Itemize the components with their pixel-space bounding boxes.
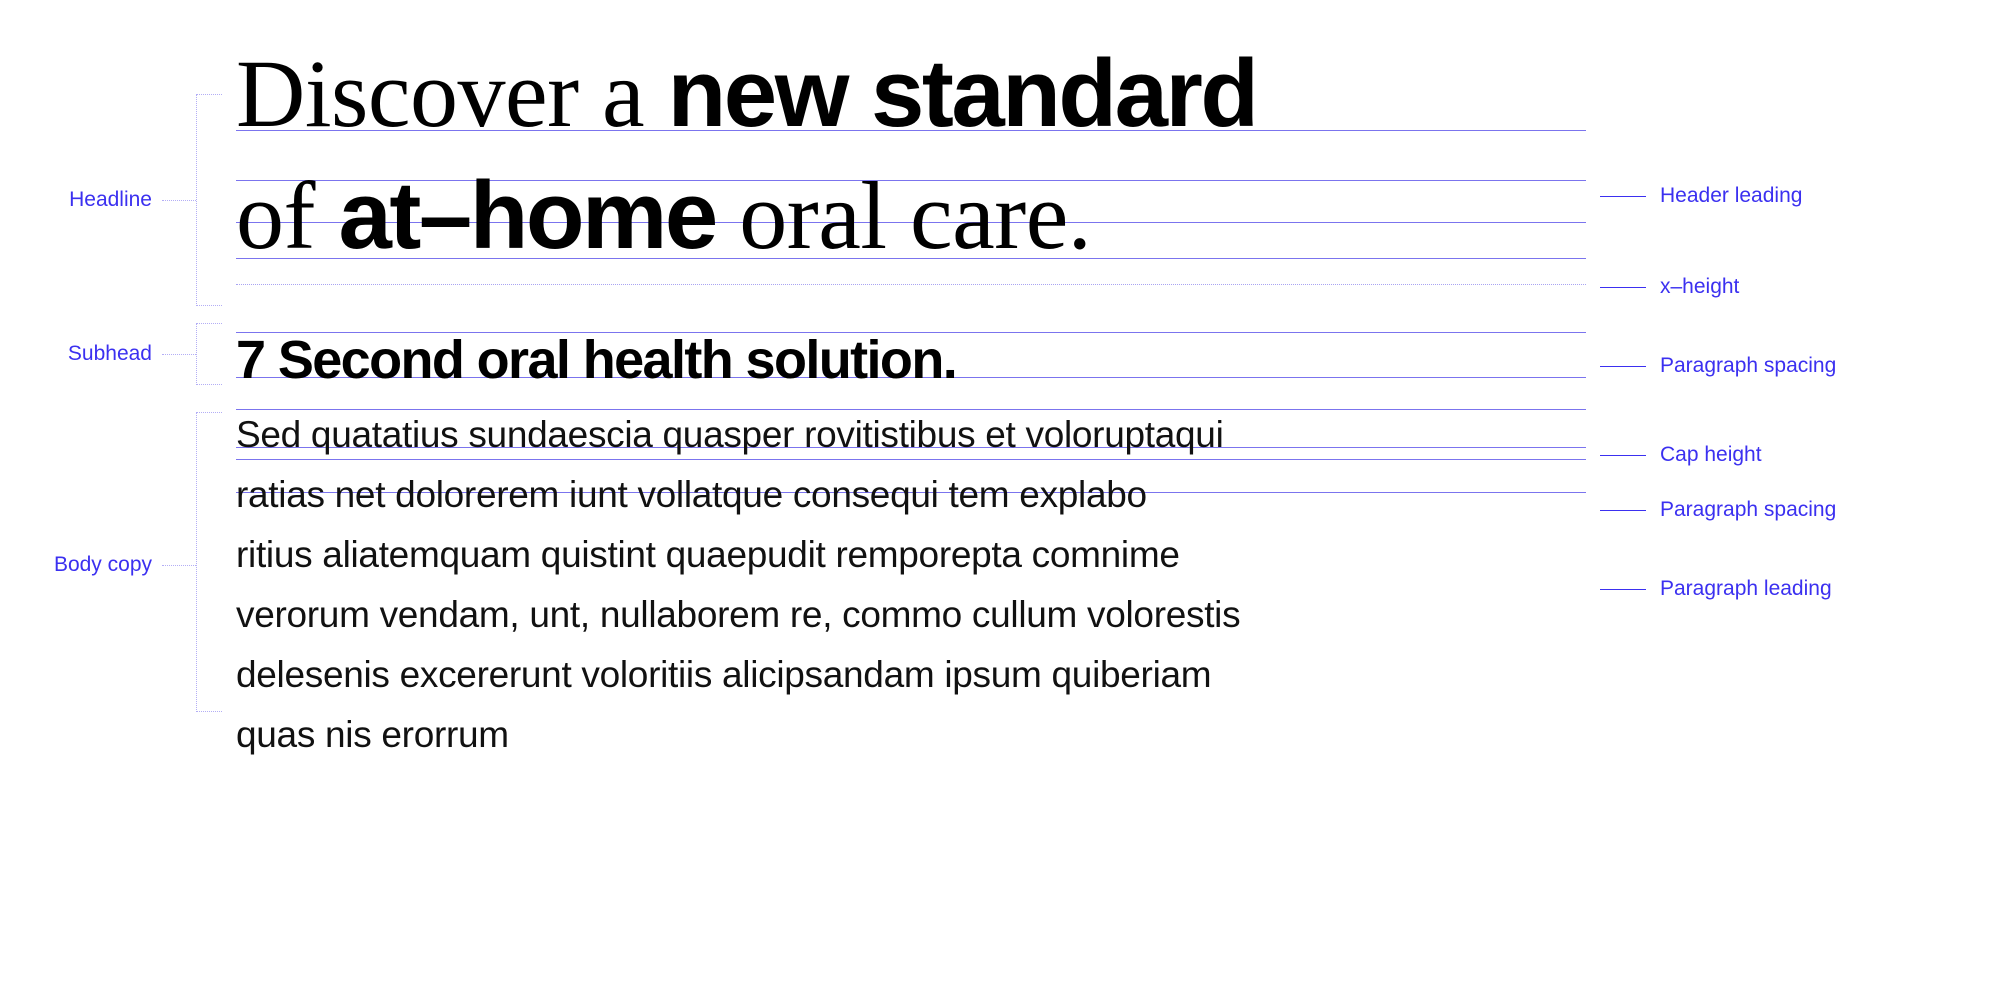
headline-serif-part: Discover a [236, 40, 668, 147]
annotation-label: Paragraph spacing [1660, 498, 1836, 522]
leader-dash-icon [1600, 196, 1646, 197]
body-copy-line: ritius aliatemquam quistint quaepudit re… [236, 525, 1556, 585]
annotation-label: Header leading [1660, 184, 1802, 208]
headline-serif-part: of [236, 162, 338, 269]
headline-sans-part: new standard [668, 40, 1257, 147]
body-copy-line: delesenis excererunt voloritiis alicipsa… [236, 645, 1556, 705]
bracket-body-copy [196, 412, 222, 712]
leader-dash-icon [1600, 510, 1646, 511]
headline-line-1: Discover a new standard [236, 46, 1256, 142]
leader-dash-icon [1600, 589, 1646, 590]
typography-spec-canvas: Headline Subhead Body copy Header leadin… [0, 0, 2000, 982]
type-specimen: Discover a new standard of at–home oral … [236, 0, 1576, 982]
annotation-label: Paragraph leading [1660, 577, 1832, 601]
headline-line-2: of at–home oral care. [236, 168, 1091, 264]
annotation-label: Paragraph spacing [1660, 354, 1836, 378]
subhead-text: 7 Second oral health solution. [236, 333, 956, 387]
body-copy-block: Sed quatatius sundaescia quasper rovitis… [236, 405, 1556, 765]
annotation-label: x–height [1660, 275, 1739, 299]
annotation-x-height: x–height [1600, 275, 1739, 299]
annotation-header-leading: Header leading [1600, 184, 1802, 208]
annotation-cap-height: Cap height [1600, 443, 1762, 467]
leader-dash-icon [1600, 287, 1646, 288]
body-copy-line: verorum vendam, unt, nullaborem re, comm… [236, 585, 1556, 645]
bracket-lead-headline [162, 200, 196, 201]
left-label-headline: Headline [0, 188, 152, 212]
bracket-lead-subhead [162, 354, 196, 355]
left-label-body-copy: Body copy [0, 553, 152, 577]
leader-dash-icon [1600, 455, 1646, 456]
annotation-paragraph-spacing-bottom: Paragraph spacing [1600, 498, 1836, 522]
left-label-subhead: Subhead [0, 342, 152, 366]
bracket-lead-body-copy [162, 565, 196, 566]
body-copy-line: quas nis erorrum [236, 705, 1556, 765]
annotation-label: Cap height [1660, 443, 1762, 467]
leader-dash-icon [1600, 366, 1646, 367]
headline-serif-part: oral care. [716, 162, 1092, 269]
bracket-subhead [196, 323, 222, 385]
body-copy-line: Sed quatatius sundaescia quasper rovitis… [236, 405, 1556, 465]
headline-sans-part: at–home [338, 162, 715, 269]
bracket-headline [196, 94, 222, 306]
annotation-paragraph-spacing-top: Paragraph spacing [1600, 354, 1836, 378]
body-copy-line: ratias net dolorerem iunt vollatque cons… [236, 465, 1556, 525]
annotation-paragraph-leading: Paragraph leading [1600, 577, 1832, 601]
